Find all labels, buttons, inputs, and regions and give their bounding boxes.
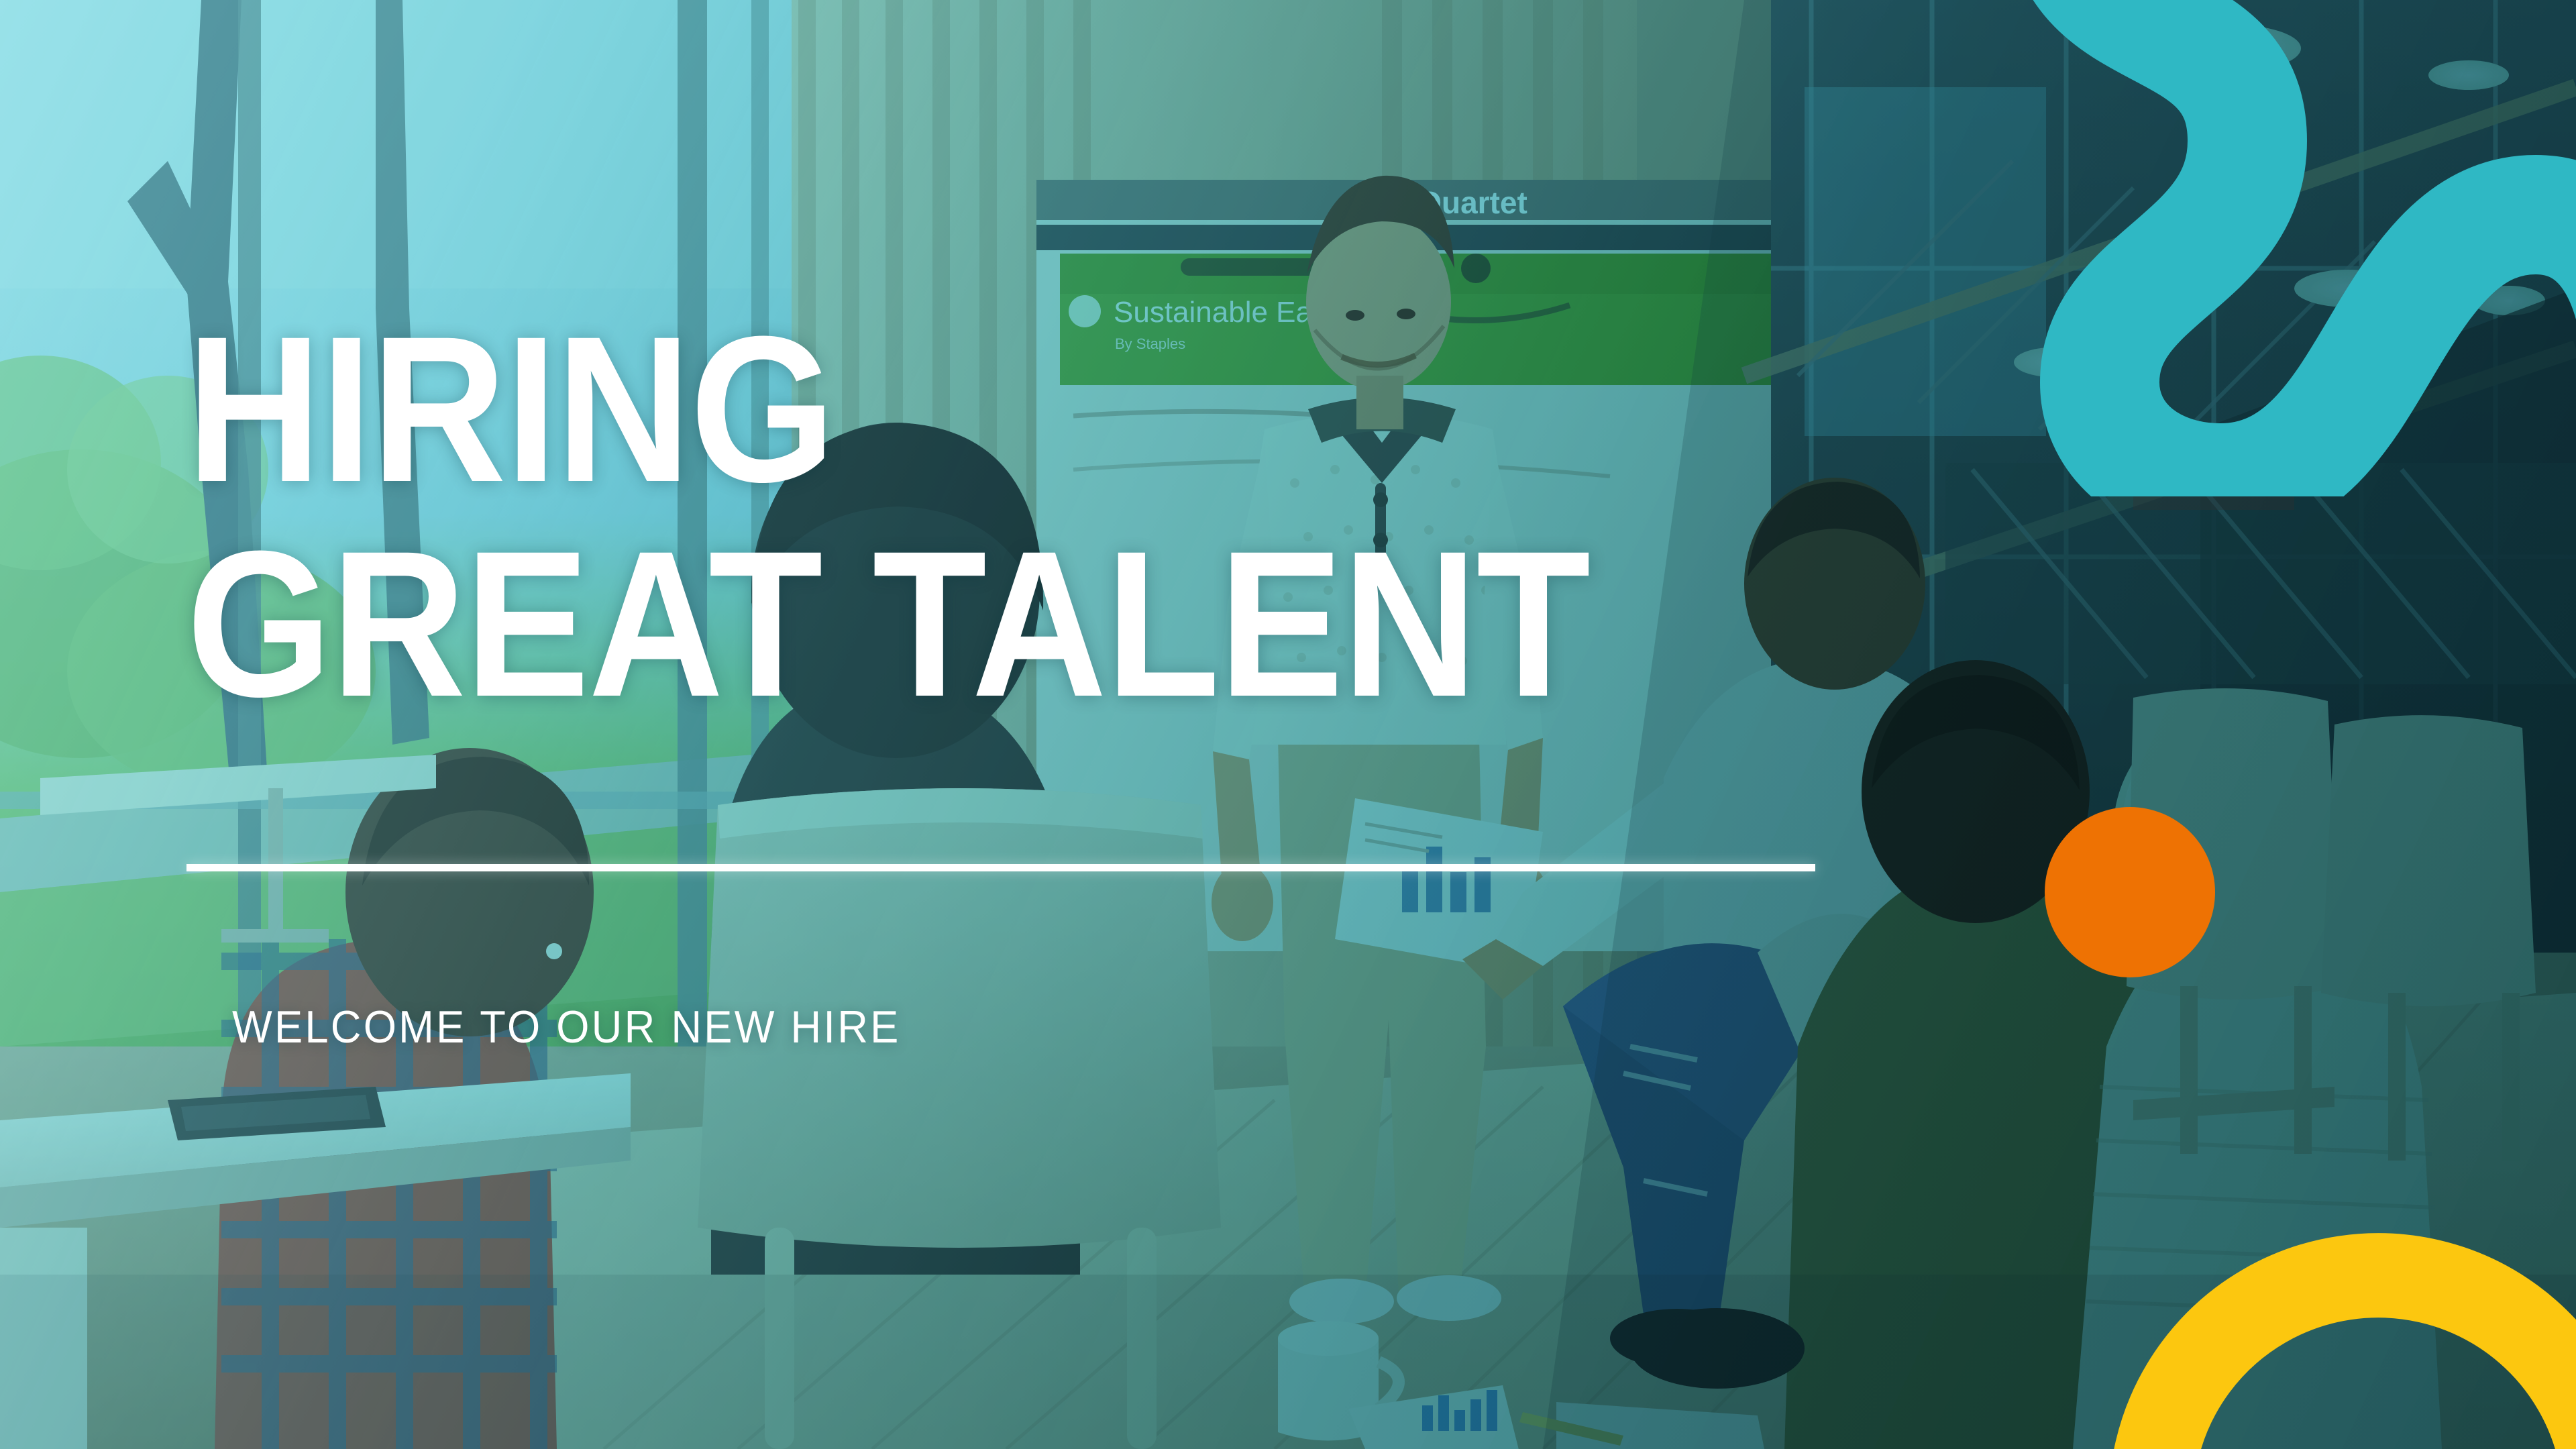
banner-subtitle: WELCOME TO OUR NEW HIRE (232, 1001, 901, 1053)
headline-line-1: HIRING (186, 315, 835, 502)
title-divider-rule (186, 864, 1815, 871)
hiring-banner: Quartet Sustainable Earth By Staples (0, 0, 2576, 1449)
headline-line-2: GREAT TALENT (186, 530, 1589, 717)
banner-content: HIRING GREAT TALENT WELCOME TO OUR NEW H… (186, 0, 1931, 1449)
